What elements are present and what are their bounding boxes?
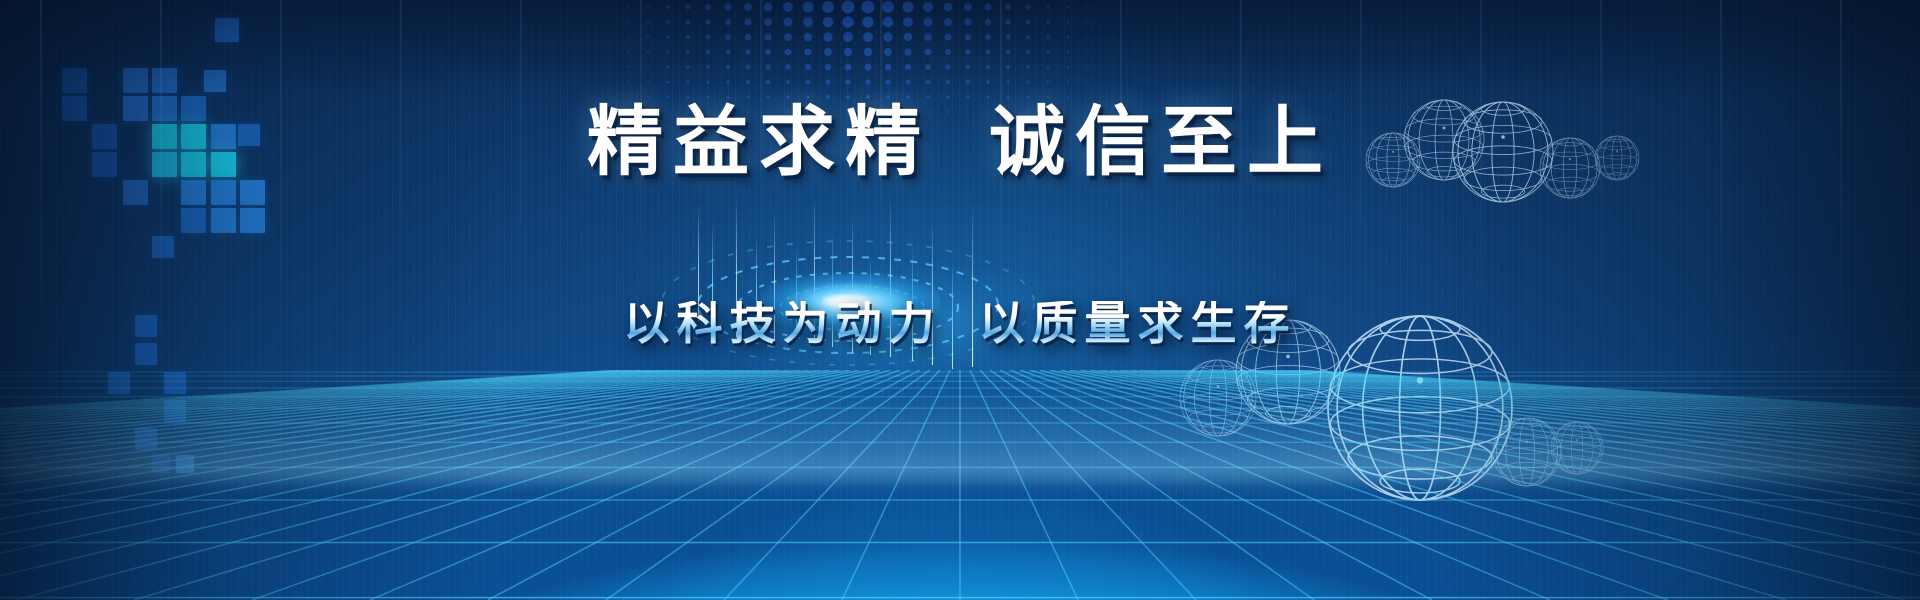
banner-text-block: 精益求精 诚信至上 以科技为动力 以质量求生存 [0, 0, 1920, 600]
banner-subtitle: 以科技为动力 以质量求生存 [624, 301, 1297, 347]
hero-banner: 精益求精 诚信至上 以科技为动力 以质量求生存 [0, 0, 1920, 600]
banner-headline: 精益求精 诚信至上 [587, 105, 1333, 181]
